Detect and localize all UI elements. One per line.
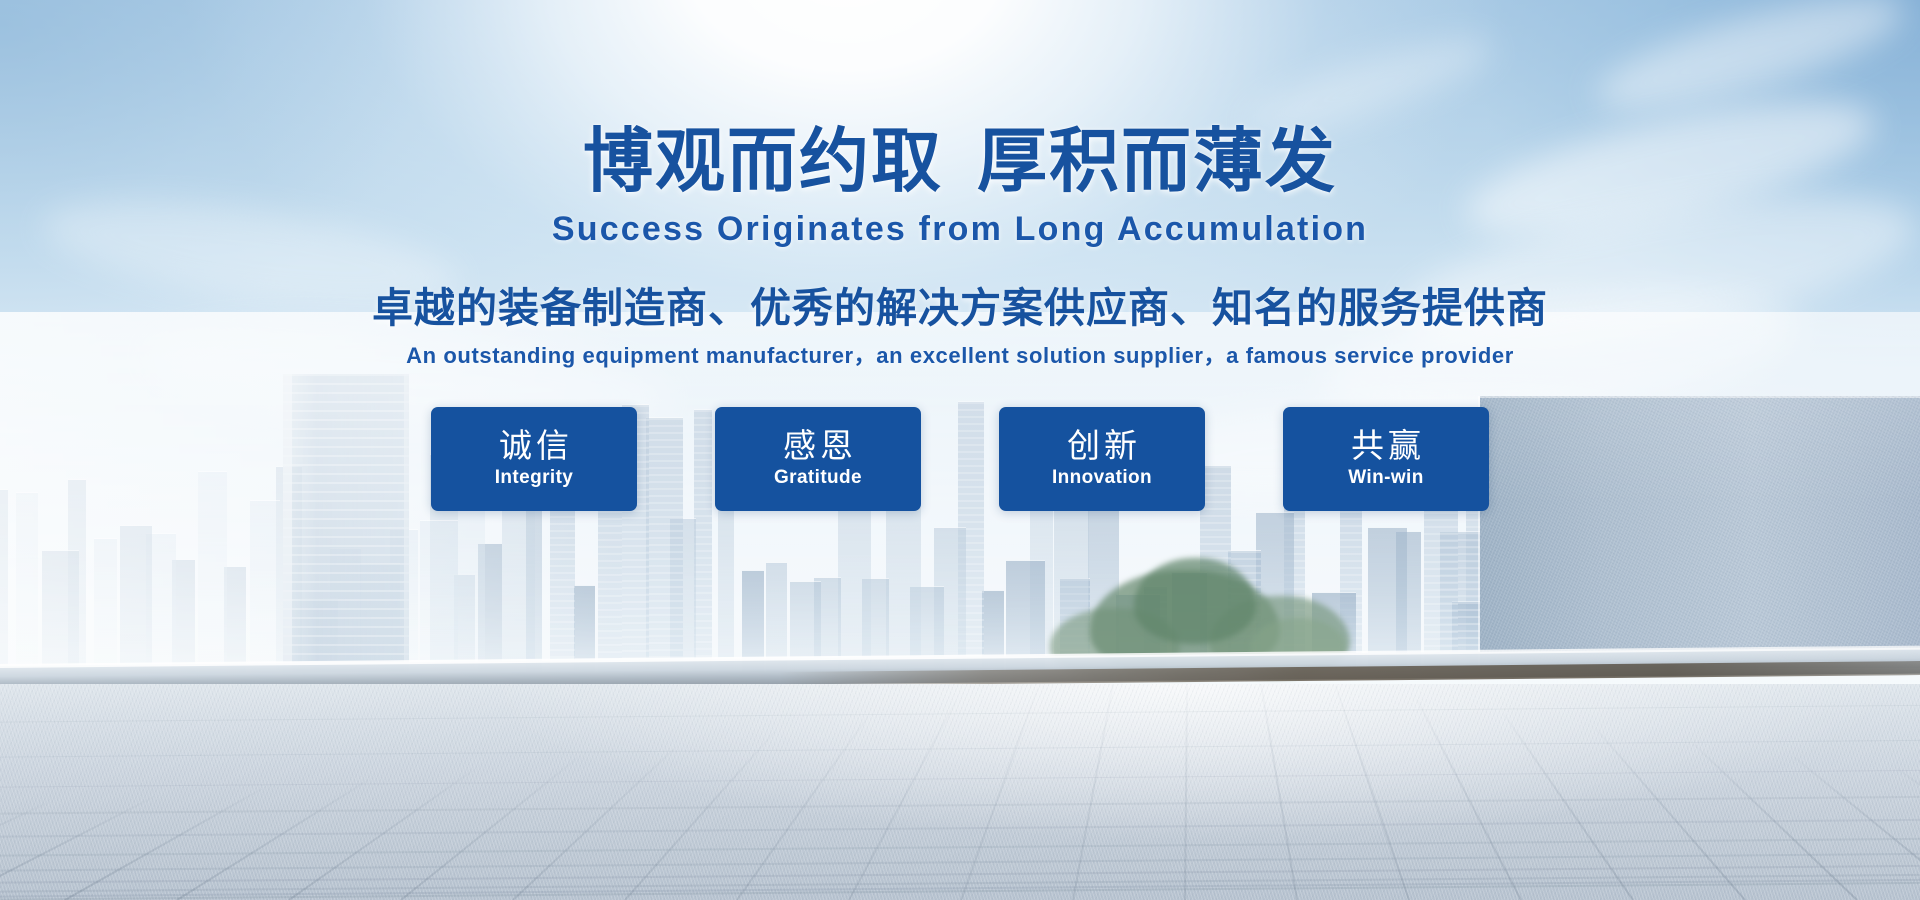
value-label-cn: 创新	[1063, 428, 1141, 464]
value-label-en: Win-win	[1348, 464, 1423, 490]
skyline-building	[0, 489, 8, 672]
skyline-building	[42, 550, 79, 672]
skyline-building	[420, 520, 458, 672]
headline-cn-part1: 博观而约取	[583, 120, 943, 202]
value-label-en: Innovation	[1052, 464, 1152, 490]
value-label-en: Gratitude	[774, 464, 862, 490]
skyline-building	[120, 525, 152, 672]
banner-content: 博观而约取厚积而薄发 Success Originates from Long …	[0, 0, 1920, 511]
hero-banner: 博观而约取厚积而薄发 Success Originates from Long …	[0, 0, 1920, 900]
value-box-winwin[interactable]: 共赢 Win-win	[1283, 407, 1489, 511]
value-box-list: 诚信 Integrity 感恩 Gratitude 创新 Innovation …	[0, 367, 1920, 511]
value-box-gratitude[interactable]: 感恩 Gratitude	[715, 407, 921, 511]
headline-english: Success Originates from Long Accumulatio…	[0, 196, 1920, 246]
plaza-floor	[0, 684, 1920, 900]
skyline-building	[16, 492, 38, 672]
value-label-en: Integrity	[495, 464, 574, 490]
subtitle-chinese: 卓越的装备制造商、优秀的解决方案供应商、知名的服务提供商	[0, 246, 1920, 329]
skyline-building	[250, 500, 280, 672]
skyline-building	[94, 538, 117, 672]
value-label-cn: 诚信	[495, 428, 573, 464]
subtitle-english: An outstanding equipment manufacturer，an…	[0, 329, 1920, 367]
value-label-cn: 共赢	[1347, 428, 1425, 464]
page-title: 博观而约取厚积而薄发	[0, 0, 1920, 196]
tree-icon	[1134, 558, 1256, 644]
value-box-integrity[interactable]: 诚信 Integrity	[431, 407, 637, 511]
value-box-innovation[interactable]: 创新 Innovation	[999, 407, 1205, 511]
value-label-cn: 感恩	[779, 428, 857, 464]
headline-cn-part2: 厚积而薄发	[977, 120, 1337, 202]
